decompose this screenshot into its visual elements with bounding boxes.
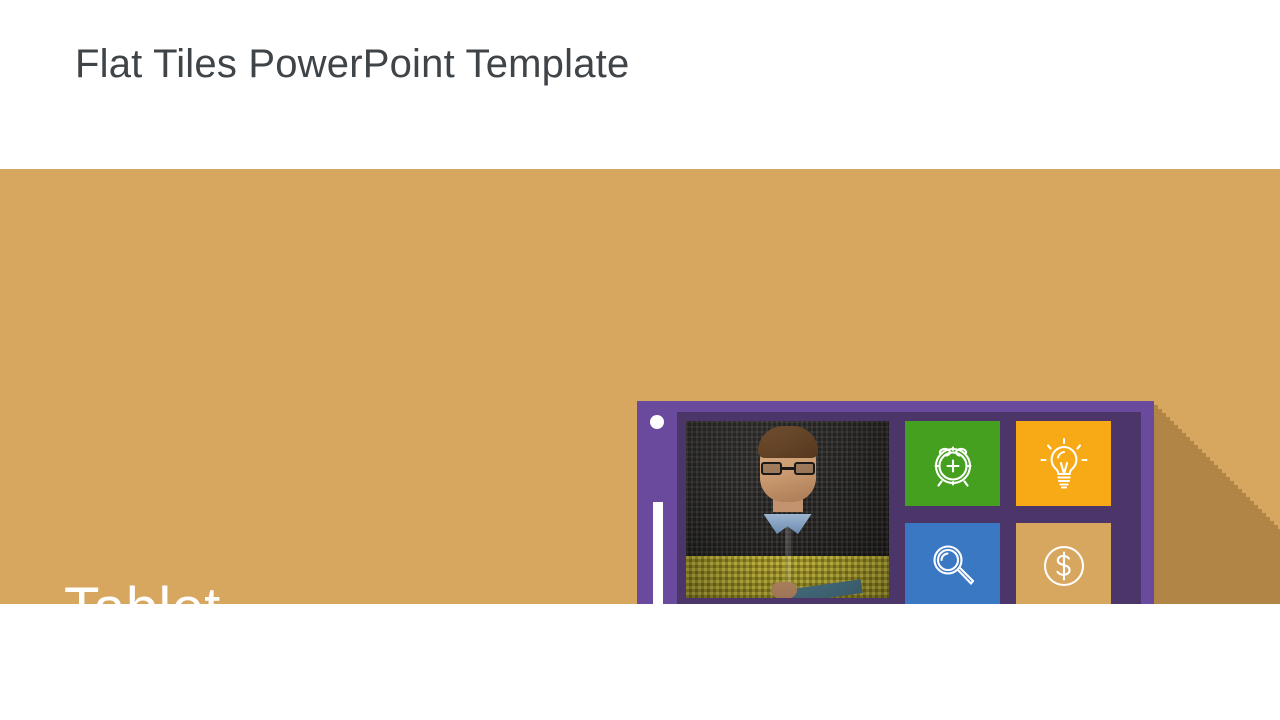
camera-dot-icon <box>650 415 664 429</box>
tile-grid <box>686 421 1132 604</box>
tablet-screen <box>677 412 1141 604</box>
tile-search[interactable] <box>905 523 1000 604</box>
person-photo-tile[interactable] <box>686 421 889 598</box>
alarm-clock-icon <box>926 437 980 491</box>
home-bar-icon[interactable] <box>653 502 663 604</box>
lightbulb-icon <box>1039 436 1089 492</box>
tile-lightbulb[interactable] <box>1016 421 1111 506</box>
magnifier-icon <box>927 540 979 592</box>
slide-canvas: Flat Tiles PowerPoint Template Tablet Lo… <box>0 0 1280 720</box>
tile-alarm-clock[interactable] <box>905 421 1000 506</box>
page-title: Flat Tiles PowerPoint Template <box>75 42 629 87</box>
tile-money[interactable] <box>1016 523 1111 604</box>
dollar-coin-icon <box>1039 541 1089 591</box>
photo-vignette <box>686 421 889 598</box>
text-block: Tablet Lorem Ipsum is simply dummy text … <box>64 579 484 604</box>
headline: Tablet <box>64 579 484 604</box>
content-band: Tablet Lorem Ipsum is simply dummy text … <box>0 169 1280 604</box>
tablet-device[interactable] <box>637 401 1154 604</box>
